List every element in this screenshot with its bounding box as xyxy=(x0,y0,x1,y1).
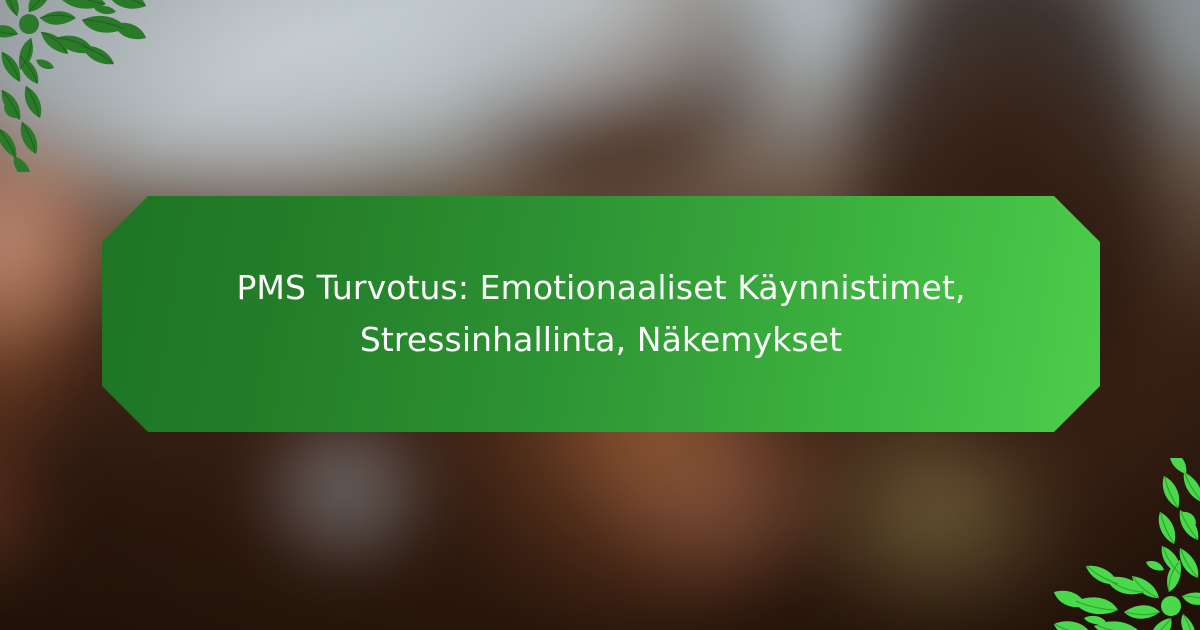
banner-title: PMS Turvotus: Emotionaaliset Käynnistime… xyxy=(206,262,996,366)
title-banner: PMS Turvotus: Emotionaaliset Käynnistime… xyxy=(102,196,1100,432)
share-image-canvas: PMS Turvotus: Emotionaaliset Käynnistime… xyxy=(0,0,1200,630)
